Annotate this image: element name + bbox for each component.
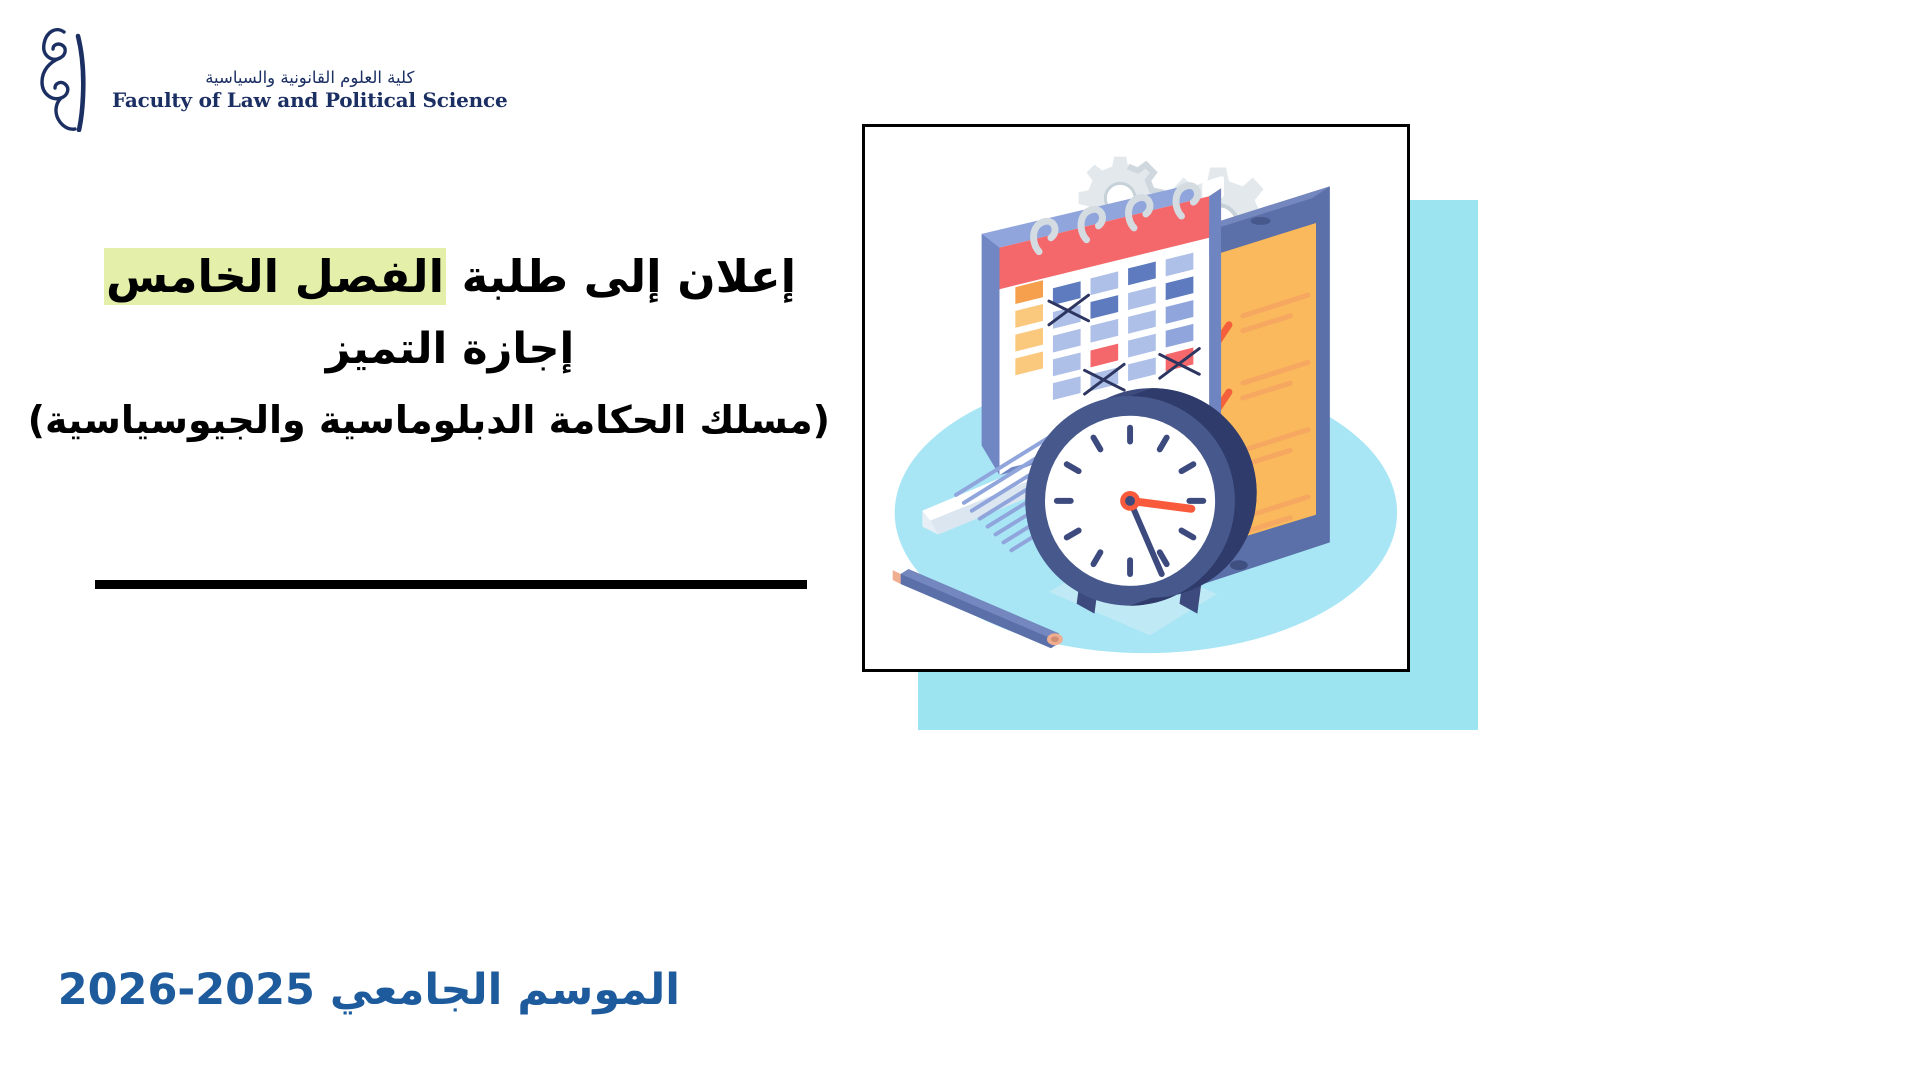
heading-divider-rule xyxy=(95,580,807,589)
poster-canvas: كلية العلوم القانونية والسياسية Faculty … xyxy=(0,0,1920,1080)
announcement-line-1-prefix: إعلان إلى طلبة xyxy=(446,250,796,303)
logo-arabic-name: كلية العلوم القانونية والسياسية xyxy=(112,69,508,86)
logo-english-name: Faculty of Law and Political Science xyxy=(112,90,508,111)
logo-wordmark: كلية العلوم القانونية والسياسية Faculty … xyxy=(112,43,508,110)
announcement-heading-block: إعلان إلى طلبة الفصل الخامس إجازة التميز… xyxy=(70,250,830,444)
logo-calligraphy-icon xyxy=(34,22,102,132)
announcement-line-1-highlight: الفصل الخامس xyxy=(104,248,446,305)
announcement-line-3: (مسلك الحكامة الدبلوماسية والجيوسياسية) xyxy=(70,397,830,443)
announcement-line-2: إجازة التميز xyxy=(70,323,830,375)
academic-year-label: الموسم الجامعي 2025-2026 xyxy=(60,965,680,1015)
illustration-frame xyxy=(862,124,1410,672)
announcement-line-1: إعلان إلى طلبة الفصل الخامس xyxy=(70,250,830,305)
faculty-logo: كلية العلوم القانونية والسياسية Faculty … xyxy=(34,18,454,136)
